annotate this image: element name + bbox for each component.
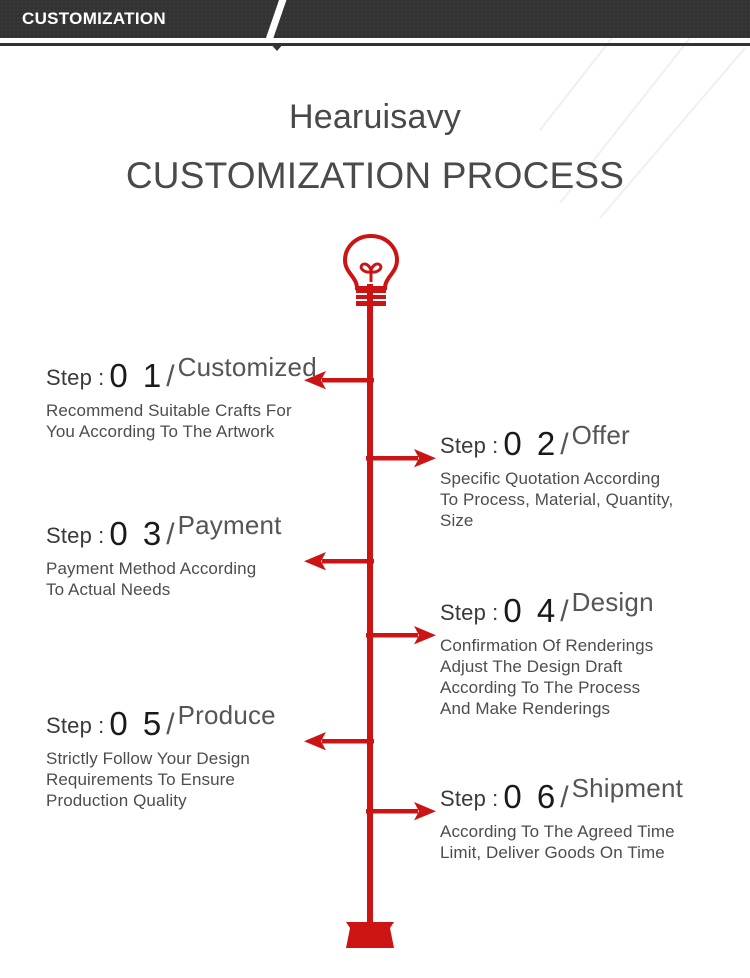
step-item-02: Step:0 2/Offer Specific Quotation Accord… (440, 425, 673, 531)
step-heading: Step:0 3/Payment (46, 515, 282, 549)
step-description-line: To Actual Needs (46, 579, 282, 600)
page-title: CUSTOMIZATION PROCESS (0, 155, 750, 197)
step-description: Strictly Follow Your Design Requirements… (46, 748, 276, 811)
customization-process-infographic: CUSTOMIZATION Hearuisavy CUSTOMIZATION P… (0, 0, 750, 978)
step-colon: : (98, 713, 104, 738)
step-description-line: Requirements To Ensure (46, 769, 276, 790)
step-heading: Step:0 5/Produce (46, 705, 276, 739)
step-colon: : (98, 523, 104, 548)
step-description: Payment Method According To Actual Needs (46, 558, 282, 600)
step-description-line: Strictly Follow Your Design (46, 748, 276, 769)
step-word: Step (440, 600, 486, 625)
step-word: Step (46, 523, 92, 548)
step-number: 0 2 (503, 425, 558, 462)
step-description: Confirmation Of Renderings Adjust The De… (440, 635, 654, 719)
step-item-06: Step:0 6/Shipment According To The Agree… (440, 778, 683, 863)
step-colon: : (492, 786, 498, 811)
connector-arrow-4 (366, 624, 436, 646)
step-description-line: According To The Process (440, 677, 654, 698)
step-description-line: Specific Quotation According (440, 468, 673, 489)
step-word: Step (440, 786, 486, 811)
step-description-line: Production Quality (46, 790, 276, 811)
step-description-line: According To The Agreed Time (440, 821, 683, 842)
step-heading: Step:0 6/Shipment (440, 778, 683, 812)
header-tag-label: CUSTOMIZATION (22, 9, 166, 29)
step-item-05: Step:0 5/Produce Strictly Follow Your De… (46, 705, 276, 811)
step-description: Specific Quotation According To Process,… (440, 468, 673, 531)
connector-arrow-5 (304, 730, 374, 752)
step-item-01: Step:0 1/Customized Recommend Suitable C… (46, 357, 317, 442)
step-label: Design (572, 587, 654, 617)
step-description-line: You According To The Artwork (46, 421, 317, 442)
step-number: 0 4 (503, 592, 558, 629)
step-label: Payment (178, 510, 282, 540)
step-number: 0 1 (109, 357, 164, 394)
brand-name: Hearuisavy (0, 98, 750, 137)
step-description-line: To Process, Material, Quantity, (440, 489, 673, 510)
connector-arrow-2 (366, 447, 436, 469)
step-word: Step (46, 365, 92, 390)
down-triangle-icon (270, 43, 284, 51)
step-word: Step (440, 433, 486, 458)
step-label: Produce (178, 700, 276, 730)
step-number: 0 5 (109, 705, 164, 742)
step-slash: / (166, 360, 174, 393)
connector-arrow-6 (366, 800, 436, 822)
step-description-line: Recommend Suitable Crafts For (46, 400, 317, 421)
step-slash: / (166, 708, 174, 741)
step-description: Recommend Suitable Crafts For You Accord… (46, 400, 317, 442)
step-description-line: Payment Method According (46, 558, 282, 579)
step-heading: Step:0 1/Customized (46, 357, 317, 391)
step-heading: Step:0 2/Offer (440, 425, 673, 459)
header-bar: CUSTOMIZATION (0, 0, 750, 38)
step-colon: : (98, 365, 104, 390)
step-word: Step (46, 713, 92, 738)
step-item-04: Step:0 4/Design Confirmation Of Renderin… (440, 592, 654, 719)
connector-arrow-3 (304, 550, 374, 572)
step-slash: / (560, 595, 568, 628)
step-number: 0 6 (503, 778, 558, 815)
step-slash: / (560, 428, 568, 461)
step-slash: / (166, 518, 174, 551)
step-description-line: Size (440, 510, 673, 531)
step-item-03: Step:0 3/Payment Payment Method Accordin… (46, 515, 282, 600)
header-underline (0, 43, 750, 46)
step-label: Shipment (572, 773, 683, 803)
step-label: Customized (178, 352, 317, 382)
step-description-line: And Make Renderings (440, 698, 654, 719)
step-slash: / (560, 781, 568, 814)
step-description-line: Adjust The Design Draft (440, 656, 654, 677)
ribbon-banner-icon (346, 922, 394, 948)
step-colon: : (492, 433, 498, 458)
step-label: Offer (572, 420, 630, 450)
diagonal-slash-icon (263, 0, 287, 38)
step-number: 0 3 (109, 515, 164, 552)
step-description: According To The Agreed Time Limit, Deli… (440, 821, 683, 863)
step-heading: Step:0 4/Design (440, 592, 654, 626)
step-colon: : (492, 600, 498, 625)
step-description-line: Limit, Deliver Goods On Time (440, 842, 683, 863)
step-description-line: Confirmation Of Renderings (440, 635, 654, 656)
